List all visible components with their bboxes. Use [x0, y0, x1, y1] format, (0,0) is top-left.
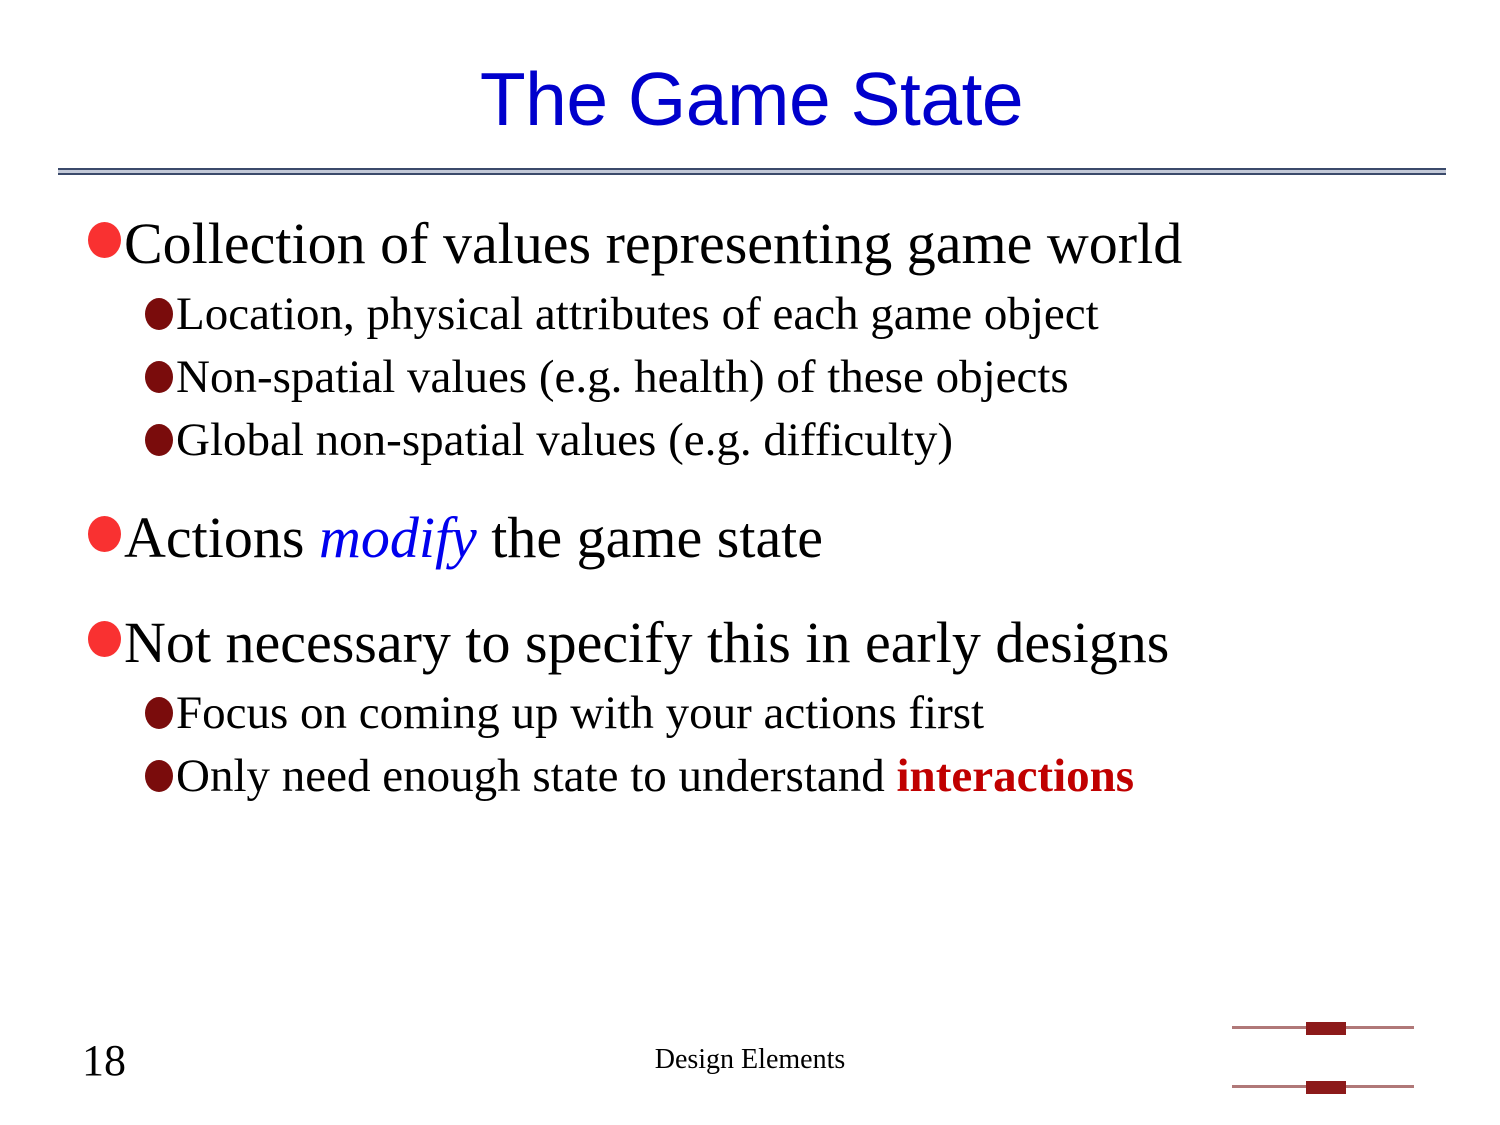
- divider-line-bottom: [58, 173, 1446, 175]
- decorative-mark-top: [1232, 1022, 1414, 1034]
- bullet-dot-icon: [145, 424, 173, 456]
- bullet-dot-icon: [145, 298, 173, 330]
- bullet-text: Focus on coming up with your actions fir…: [176, 682, 984, 745]
- page-number: 18: [82, 1036, 126, 1086]
- content-spacer: [88, 577, 1448, 604]
- bullet-item-level2: Location, physical attributes of each ga…: [145, 283, 1448, 346]
- bullet-item-level2: Non-spatial values (e.g. health) of thes…: [145, 346, 1448, 409]
- title-divider: [58, 168, 1446, 175]
- bullet-text-segment: Only need enough state to understand: [176, 750, 897, 802]
- bullet-item-level2: Global non-spatial values (e.g. difficul…: [145, 409, 1448, 472]
- bullet-item-level1: Actions modify the game state: [88, 499, 1448, 577]
- slide-canvas: The Game State Collection of values repr…: [0, 0, 1500, 1125]
- bullet-text: Only need enough state to understand int…: [176, 745, 1134, 808]
- decorative-block: [1306, 1081, 1346, 1094]
- slide-body: Collection of values representing game w…: [88, 205, 1448, 808]
- bullet-text: Non-spatial values (e.g. health) of thes…: [176, 346, 1069, 409]
- bullet-item-level1: Collection of values representing game w…: [88, 205, 1448, 283]
- bullet-dot-icon: [88, 222, 121, 258]
- bullet-dot-icon: [88, 516, 121, 552]
- bullet-text: Location, physical attributes of each ga…: [176, 283, 1099, 346]
- bullet-dot-icon: [145, 760, 173, 792]
- bullet-text: Collection of values representing game w…: [124, 205, 1182, 283]
- footer-label: Design Elements: [520, 1043, 980, 1077]
- page-title: The Game State: [480, 62, 1023, 137]
- decorative-mark-bottom: [1232, 1081, 1414, 1093]
- emphasis-interactions: interactions: [897, 750, 1135, 802]
- bullet-item-level2: Focus on coming up with your actions fir…: [145, 682, 1448, 745]
- bullet-dot-icon: [145, 361, 173, 393]
- slide-title-container: The Game State: [58, 44, 1445, 154]
- bullet-text: Actions modify the game state: [124, 499, 823, 577]
- bullet-item-level1: Not necessary to specify this in early d…: [88, 604, 1448, 682]
- bullet-text-segment: the game state: [477, 505, 823, 570]
- decorative-block: [1306, 1022, 1346, 1035]
- bullet-dot-icon: [145, 697, 173, 729]
- content-spacer: [88, 472, 1448, 499]
- bullet-text-segment: Actions: [124, 505, 319, 570]
- emphasis-modify: modify: [319, 505, 477, 570]
- bullet-item-level2: Only need enough state to understand int…: [145, 745, 1448, 808]
- bullet-text: Global non-spatial values (e.g. difficul…: [176, 409, 953, 472]
- bullet-dot-icon: [88, 621, 121, 657]
- bullet-text: Not necessary to specify this in early d…: [124, 604, 1169, 682]
